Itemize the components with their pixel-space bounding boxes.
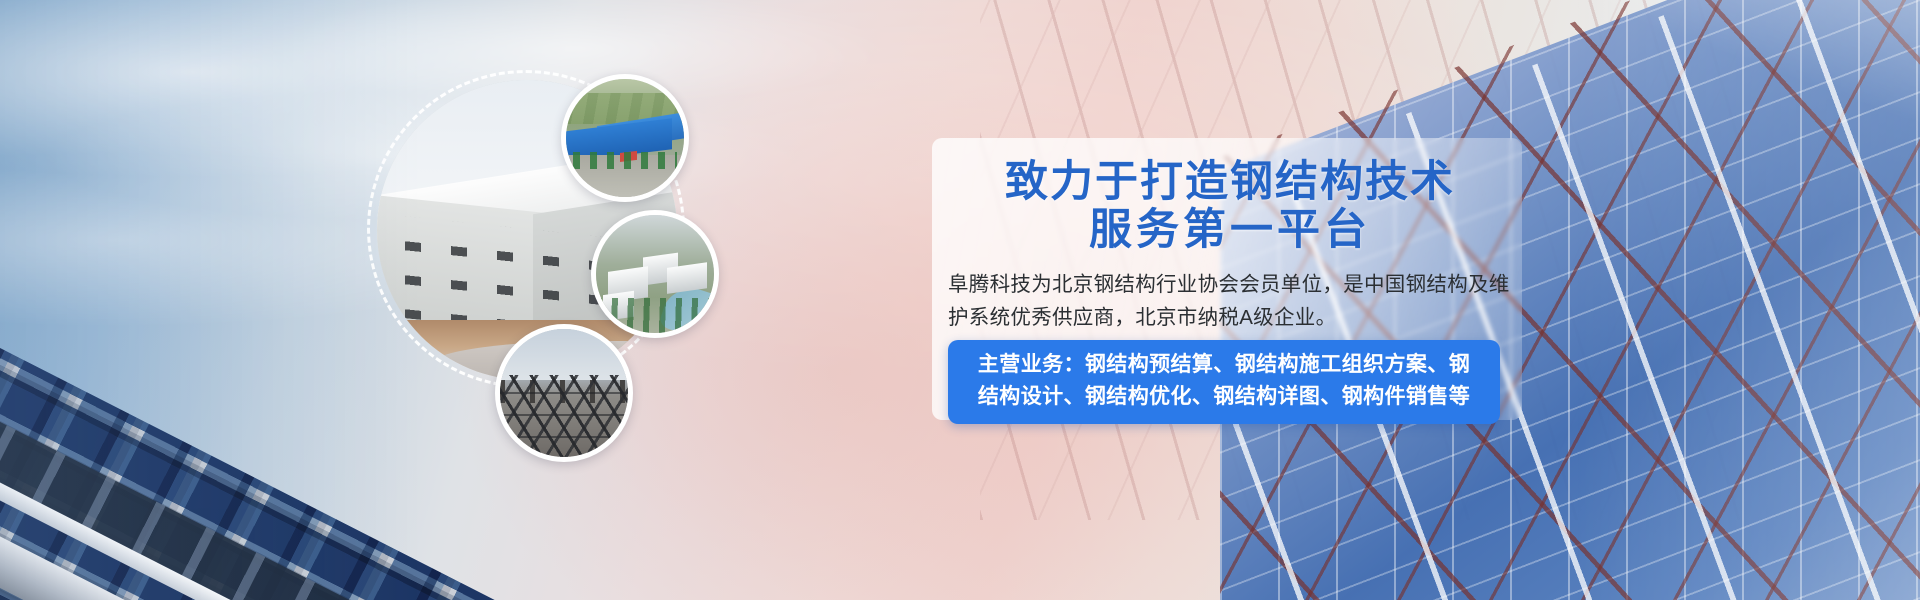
services-badge: 主营业务：钢结构预结算、钢结构施工组织方案、钢 结构设计、钢结构优化、钢结构详图… [948, 340, 1500, 424]
photo-trees [596, 298, 714, 333]
photo-sky [500, 329, 628, 380]
photo-circle-factory [561, 74, 689, 202]
photo-truss-grid [495, 375, 633, 459]
photo-trees [573, 152, 677, 169]
photo-campus-building [667, 262, 707, 294]
services-badge-line-1: 主营业务：钢结构预结算、钢结构施工组织方案、钢 [964, 349, 1484, 381]
steel-space-frame-truss-photo [500, 329, 628, 457]
banner-paragraph: 阜腾科技为北京钢结构行业协会会员单位，是中国钢结构及维 护系统优秀供应商，北京市… [948, 268, 1514, 334]
photo-circle-campus [591, 210, 719, 338]
headline-line-1: 致力于打造钢结构技术 [940, 158, 1520, 206]
headline-line-2: 服务第一平台 [940, 206, 1520, 254]
banner-headline: 致力于打造钢结构技术 服务第一平台 [940, 158, 1520, 254]
photo-collage [355, 52, 755, 472]
services-badge-line-2: 结构设计、钢结构优化、钢结构详图、钢构件销售等 [964, 381, 1484, 413]
banner-stage: 致力于打造钢结构技术 服务第一平台 阜腾科技为北京钢结构行业协会会员单位，是中国… [0, 0, 1920, 600]
paragraph-line-1: 阜腾科技为北京钢结构行业协会会员单位，是中国钢结构及维 [948, 268, 1514, 301]
right-building-sky-highlight [1460, 0, 1920, 140]
aerial-white-campus-river-photo [596, 215, 714, 333]
photo-circle-truss [495, 324, 633, 462]
paragraph-line-2: 护系统优秀供应商，北京市纳税A级企业。 [948, 301, 1514, 334]
aerial-blue-roof-factory-photo [566, 79, 684, 197]
